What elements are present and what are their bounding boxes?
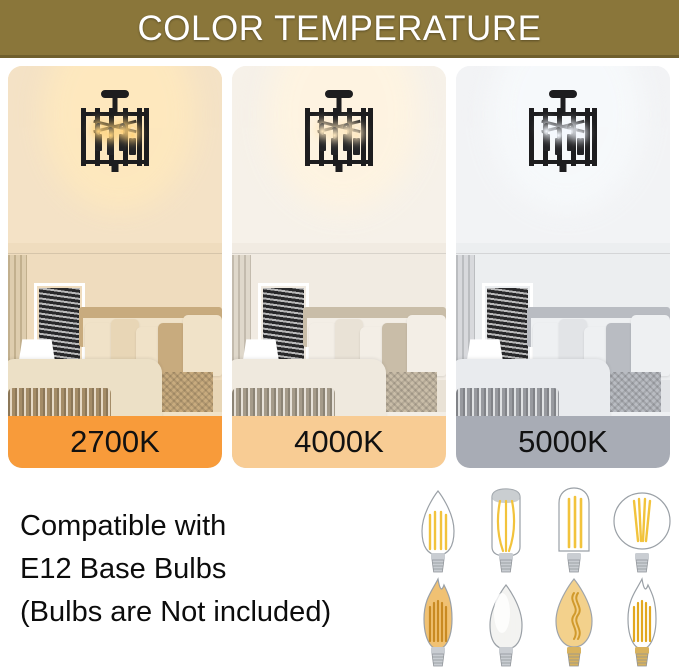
- page-title: COLOR TEMPERATURE: [138, 9, 542, 49]
- bed-pillow-4: [382, 323, 410, 375]
- amber-flame-tip-bulb: [404, 575, 472, 669]
- temp-panel-5000k[interactable]: 5000K: [456, 66, 670, 468]
- temp-panel-4000k[interactable]: 4000K: [232, 66, 446, 468]
- chandelier-candle-3: [343, 134, 350, 151]
- chandelier-flame-4: [129, 127, 136, 139]
- clear-tubular-filament-bulb: [472, 481, 540, 575]
- clear-flame-tip-gold-bulb: [608, 575, 676, 669]
- chandelier-flame-1: [543, 123, 550, 135]
- bed-pillow-4: [158, 323, 186, 375]
- temp-label-5000k: 5000K: [518, 424, 608, 460]
- chandelier-candle-3: [567, 134, 574, 151]
- bed-pillow-5: [183, 315, 222, 375]
- wall-ceiling-edge: [232, 253, 446, 254]
- chandelier-candle-1: [319, 134, 326, 151]
- room-scene-neutral-white: [232, 66, 446, 468]
- chandelier-candle-2: [107, 138, 114, 155]
- chandelier-flame-4: [353, 127, 360, 139]
- clear-tube-filament-bulb: [540, 481, 608, 575]
- chandelier-vertical-bar-5: [137, 108, 142, 166]
- compatible-bulb-gallery: [404, 481, 676, 667]
- header-banner: COLOR TEMPERATURE: [0, 0, 679, 58]
- temp-panel-2700k[interactable]: 2700K: [8, 66, 222, 468]
- frosted-white-candle-bulb: [472, 575, 540, 669]
- chandelier-flame-2: [107, 127, 114, 139]
- chandelier-vertical-bar-6: [368, 108, 373, 166]
- wall-ceiling-edge: [8, 253, 222, 254]
- compatibility-text-block: Compatible with E12 Base Bulbs (Bulbs ar…: [20, 505, 410, 634]
- temp-band-5000k: 5000K: [456, 416, 670, 468]
- chandelier-candle-3: [119, 134, 126, 151]
- chandelier-vertical-bar-1: [81, 108, 86, 166]
- chandelier-candle-2: [331, 138, 338, 155]
- amber-teardrop-vintage-bulb: [540, 575, 608, 669]
- chandelier-candle-1: [543, 134, 550, 151]
- chandelier-flame-2: [555, 127, 562, 139]
- chandelier-flame-1: [319, 123, 326, 135]
- chandelier-vertical-bar-6: [592, 108, 597, 166]
- bed-pillow-5: [631, 315, 670, 375]
- semi-flush-chandelier: [69, 90, 161, 186]
- chandelier-candle-4: [577, 138, 584, 155]
- chandelier-vertical-bar-5: [361, 108, 366, 166]
- chandelier-candle-1: [95, 134, 102, 151]
- temp-band-4000k: 4000K: [232, 416, 446, 468]
- room-scene-daylight-white: [456, 66, 670, 468]
- compatibility-line-1: Compatible with: [20, 505, 410, 548]
- chandelier-vertical-bar-6: [144, 108, 149, 166]
- chandelier-candle-2: [555, 138, 562, 155]
- chandelier-vertical-bar-1: [305, 108, 310, 166]
- compatibility-line-3: (Bulbs are Not included): [20, 591, 410, 634]
- chandelier-candle-4: [353, 138, 360, 155]
- chandelier-vertical-bar-1: [529, 108, 534, 166]
- room-scene-warm-white: [8, 66, 222, 468]
- chandelier-flame-4: [577, 127, 584, 139]
- semi-flush-chandelier: [517, 90, 609, 186]
- temp-band-2700k: 2700K: [8, 416, 222, 468]
- chandelier-vertical-bar-5: [585, 108, 590, 166]
- wall-ceiling-edge: [456, 253, 670, 254]
- compatibility-line-2: E12 Base Bulbs: [20, 548, 410, 591]
- chandelier-flame-3: [567, 123, 574, 135]
- chandelier-flame-3: [343, 123, 350, 135]
- temp-label-2700k: 2700K: [70, 424, 160, 460]
- bed-pillow-4: [606, 323, 634, 375]
- clear-globe-filament-bulb: [608, 481, 676, 575]
- temp-label-4000k: 4000K: [294, 424, 384, 460]
- chandelier-candle-4: [129, 138, 136, 155]
- chandelier-flame-2: [331, 127, 338, 139]
- chandelier-flame-3: [119, 123, 126, 135]
- bed-pillow-5: [407, 315, 446, 375]
- semi-flush-chandelier: [293, 90, 385, 186]
- clear-candle-filament-bulb: [404, 481, 472, 575]
- color-temperature-comparison: 2700K4000K5000K: [8, 66, 671, 468]
- chandelier-flame-1: [95, 123, 102, 135]
